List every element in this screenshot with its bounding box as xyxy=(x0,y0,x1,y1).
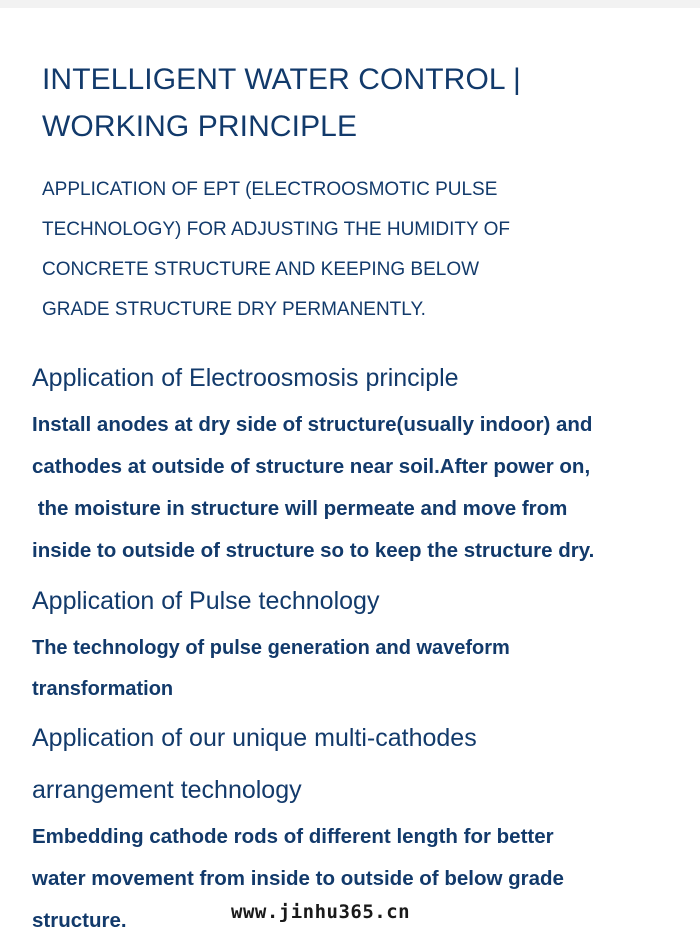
document-content: INTELLIGENT WATER CONTROL | WORKING PRIN… xyxy=(0,8,700,944)
subtitle-block: APPLICATION OF EPT (ELECTROOSMOTIC PULSE… xyxy=(0,150,700,330)
section-heading: Application of Electroosmosis principle xyxy=(32,352,692,404)
section-heading: Application of our unique multi-cathodes… xyxy=(32,712,692,816)
document-page: INTELLIGENT WATER CONTROL | WORKING PRIN… xyxy=(0,0,700,939)
section-body: Install anodes at dry side of structure(… xyxy=(32,404,692,572)
website-watermark: www.jinhu365.cn xyxy=(231,901,410,923)
section-body: The technology of pulse generation and w… xyxy=(32,628,692,710)
page-subtitle: APPLICATION OF EPT (ELECTROOSMOTIC PULSE… xyxy=(42,170,686,330)
sections-list: Application of Electroosmosis principle … xyxy=(0,330,700,942)
title-block: INTELLIGENT WATER CONTROL | WORKING PRIN… xyxy=(0,8,700,150)
page-title: INTELLIGENT WATER CONTROL | WORKING PRIN… xyxy=(42,56,684,150)
section-body: Embedding cathode rods of different leng… xyxy=(32,816,692,942)
section-electroosmosis-principle: Application of Electroosmosis principle … xyxy=(32,352,692,572)
section-heading: Application of Pulse technology xyxy=(32,574,692,628)
section-pulse-technology: Application of Pulse technology The tech… xyxy=(32,574,692,710)
top-edge-strip xyxy=(0,0,700,8)
